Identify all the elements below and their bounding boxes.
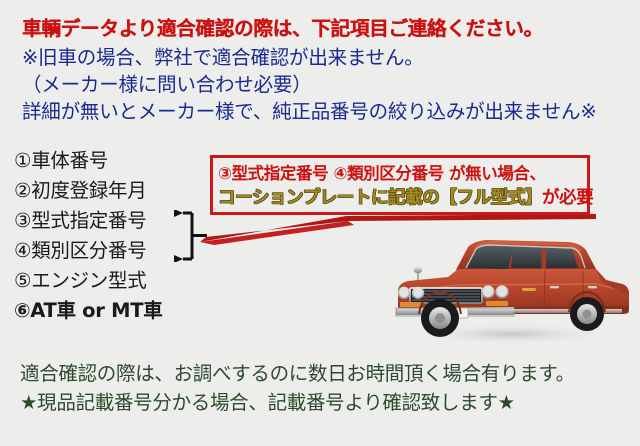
list-item: ③型式指定番号 xyxy=(14,206,162,236)
callout-line-1: ③型式指定番号 ④類別区分番号 が無い場合、 xyxy=(218,160,546,184)
list-item-marker: ② xyxy=(14,179,31,202)
list-item-label: 類別区分番号 xyxy=(31,239,146,262)
list-item-marker: ⑥ xyxy=(14,299,30,322)
list-item: ①車体番号 xyxy=(14,146,162,176)
callout-line-2-prefix: コーションプレートに記載の xyxy=(218,188,439,208)
bracket-stem xyxy=(193,234,207,237)
callout-line-2-suffix: が必要 xyxy=(542,188,593,208)
list-item-label: 車体番号 xyxy=(31,149,108,172)
list-item-marker: ③ xyxy=(14,209,31,232)
list-item-marker: ④ xyxy=(14,239,31,262)
notice-header-line-4: 詳細が無いとメーカー様で、純正品番号の絞り込みが出来ません※ xyxy=(22,95,596,124)
notice-header-line-2: ※旧車の場合、弊社で適合確認が出来ません。 xyxy=(22,41,424,70)
grouping-bracket-icon xyxy=(171,210,197,262)
list-item: ⑤エンジン型式 xyxy=(14,266,162,296)
list-item-label: 型式指定番号 xyxy=(31,209,146,232)
callout-box: ③型式指定番号 ④類別区分番号 が無い場合、 コーションプレートに記載の【フル型… xyxy=(210,155,590,215)
callout-full-model-highlight: 【フル型式】 xyxy=(439,188,542,208)
required-items-list: ①車体番号 ②初度登録年月 ③型式指定番号 ④類別区分番号 ⑤エンジン型式 ⑥A… xyxy=(14,146,162,326)
list-item-label: 初度登録年月 xyxy=(31,179,146,202)
list-item: ④類別区分番号 xyxy=(14,236,162,266)
list-item-label: エンジン型式 xyxy=(31,269,146,292)
list-item-label: AT車 or MT車 xyxy=(30,299,162,322)
notice-header-line-1: 車輌データより適合確認の際は、下記項目ご連絡ください。 xyxy=(22,12,543,41)
list-item: ⑥AT車 or MT車 xyxy=(14,296,162,326)
list-item: ②初度登録年月 xyxy=(14,176,162,206)
footer-line-2: ★現品記載番号分かる場合、記載番号より確認致します★ xyxy=(20,386,515,415)
list-item-marker: ① xyxy=(14,149,31,172)
callout-pointer-arrow-icon xyxy=(196,212,596,248)
notice-header-line-3: （メーカー様に問い合わせ必要） xyxy=(22,68,312,97)
notice-page: 車輌データより適合確認の際は、下記項目ご連絡ください。 ※旧車の場合、弊社で適合… xyxy=(0,0,640,446)
callout-line-2: コーションプレートに記載の【フル型式】が必要 xyxy=(218,184,593,209)
list-item-marker: ⑤ xyxy=(14,269,31,292)
footer-line-1: 適合確認の際は、お調べするのに数日お時間頂く場合有ります。 xyxy=(20,357,575,386)
